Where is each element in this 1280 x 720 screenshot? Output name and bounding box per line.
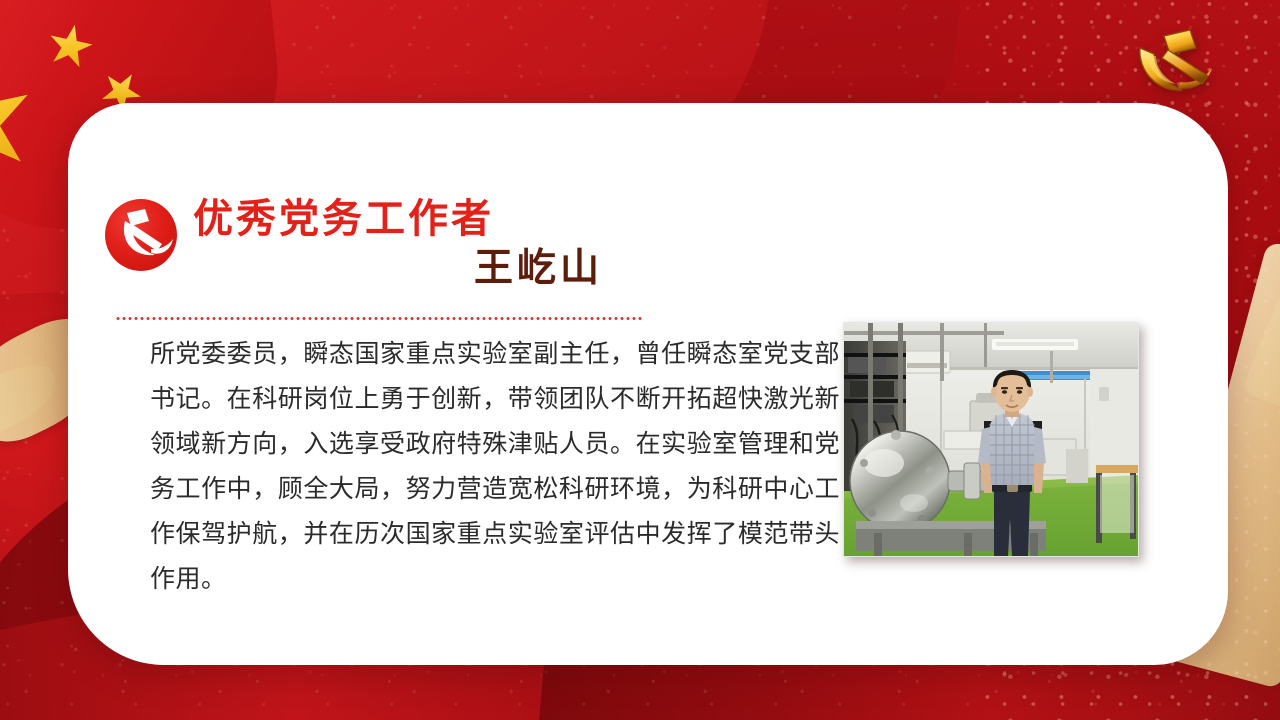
- page-title: 优秀党务工作者: [193, 196, 753, 242]
- flag-star-small-1-icon: [44, 20, 96, 72]
- gold-ribbon-left-secondary: [0, 357, 65, 452]
- person-name: 王屹山: [193, 244, 753, 292]
- gold-ribbon-right-secondary: [1241, 113, 1280, 427]
- party-emblem-hammer-sickle-icon: [105, 199, 177, 271]
- slide-root: 优秀党务工作者 王屹山 所党委委员，瞬态国家重点实验室副主任，曾任瞬态室党支部书…: [0, 0, 1280, 720]
- dotted-divider: [115, 317, 642, 320]
- flag-star-large-icon: [0, 56, 44, 189]
- title-block: 优秀党务工作者 王屹山: [193, 196, 753, 292]
- golden-party-emblem-icon: [1120, 22, 1228, 106]
- portrait-photo-laboratory: [843, 322, 1139, 557]
- biography-text: 所党委委员，瞬态国家重点实验室副主任，曾任瞬态室党支部书记。在科研岗位上勇于创新…: [150, 331, 840, 601]
- party-emblem-badge: [105, 199, 177, 271]
- content-card: 优秀党务工作者 王屹山 所党委委员，瞬态国家重点实验室副主任，曾任瞬态室党支部书…: [68, 103, 1228, 665]
